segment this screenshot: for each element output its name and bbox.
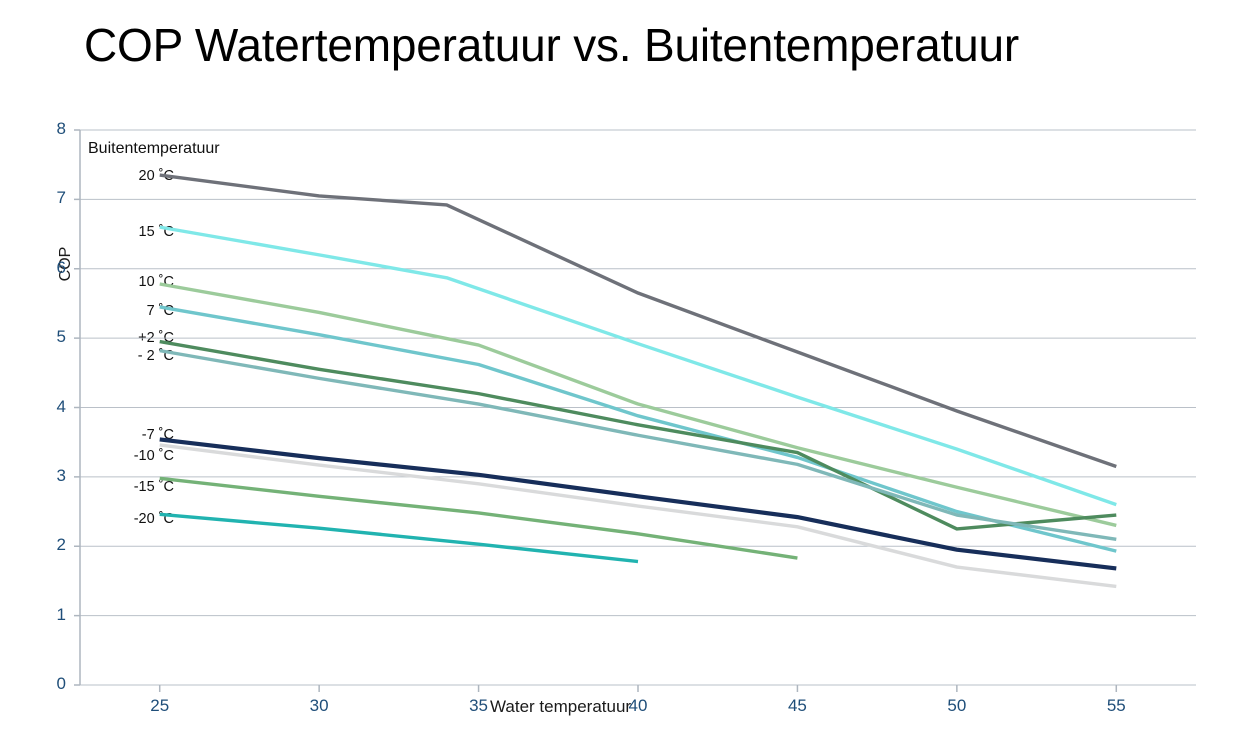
series-line <box>160 439 1117 568</box>
chart-container: COP Watertemperatuur vs. Buitentemperatu… <box>0 0 1256 734</box>
series-line <box>160 284 1117 525</box>
plot-area <box>0 0 1256 734</box>
series-line <box>160 514 638 561</box>
series-line <box>160 351 1117 540</box>
series-line <box>160 175 1117 466</box>
